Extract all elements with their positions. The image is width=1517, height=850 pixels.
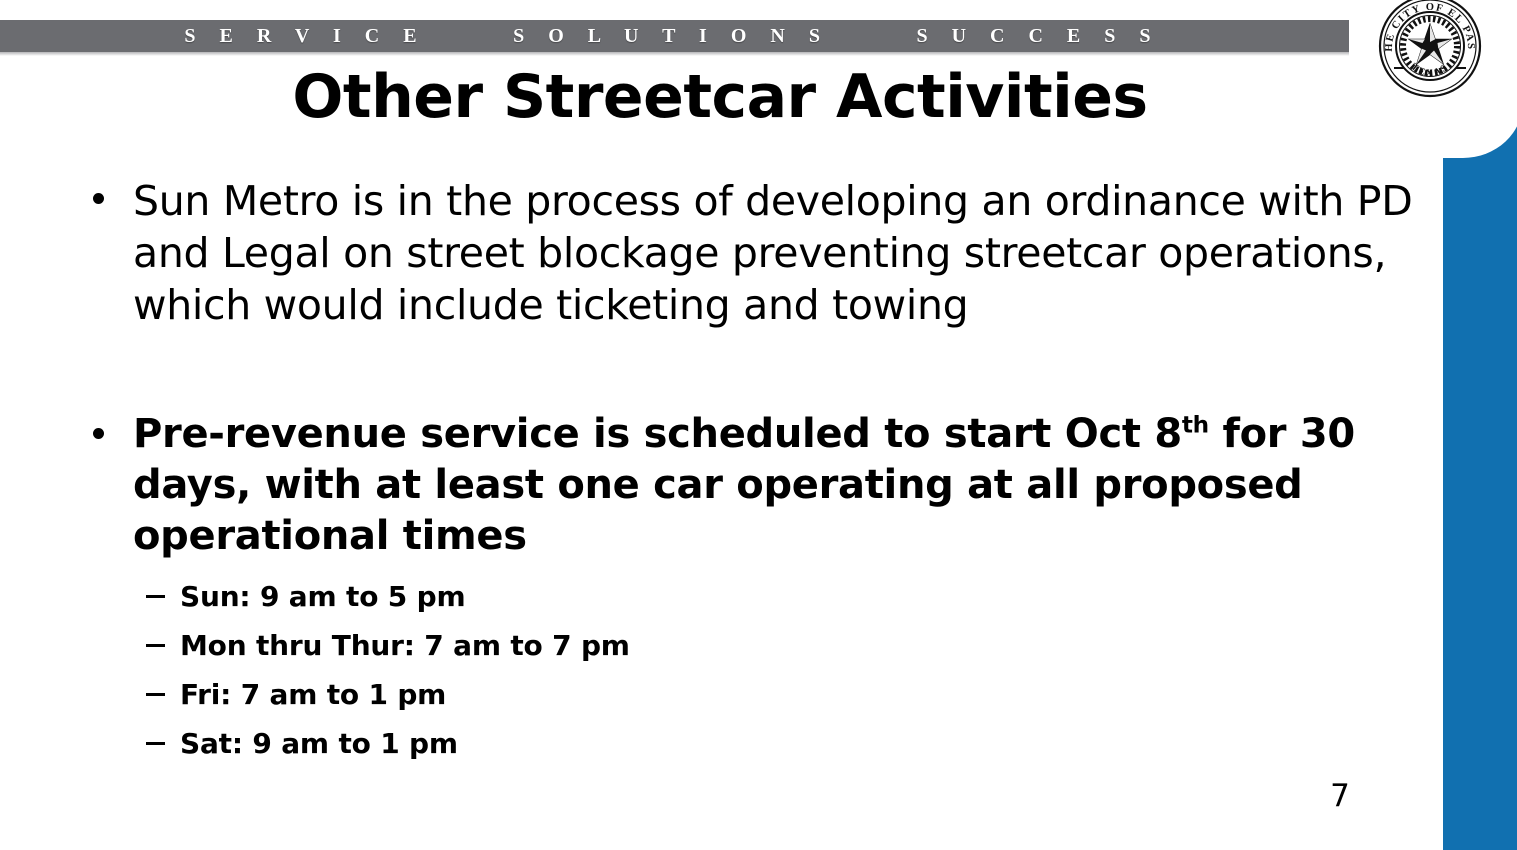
bullet-item: Pre-revenue service is scheduled to star… xyxy=(0,409,1430,562)
page-number: 7 xyxy=(1300,778,1380,814)
blue-accent-bar xyxy=(1443,96,1517,850)
bullet-text: Sun Metro is in the process of developin… xyxy=(133,175,1418,331)
dash-icon xyxy=(146,693,165,696)
slide-body: Sun Metro is in the process of developin… xyxy=(0,175,1430,768)
sub-bullet-list: Sun: 9 am to 5 pm Mon thru Thur: 7 am to… xyxy=(0,572,1430,768)
sub-bullet-item: Fri: 7 am to 1 pm xyxy=(0,670,1430,719)
sub-bullet-item: Mon thru Thur: 7 am to 7 pm xyxy=(0,621,1430,670)
sub-bullet-text: Sat: 9 am to 1 pm xyxy=(180,727,458,760)
dash-icon xyxy=(146,742,165,745)
bullet-text-part1: Pre-revenue service is scheduled to star… xyxy=(133,411,1182,457)
sub-bullet-item: Sat: 9 am to 1 pm xyxy=(0,719,1430,768)
bullet-text: Pre-revenue service is scheduled to star… xyxy=(133,409,1408,562)
bullet-spacer xyxy=(0,331,1430,409)
presentation-slide: S E R V I C E S O L U T I O N S S U C C … xyxy=(0,0,1517,850)
ordinal-superscript: th xyxy=(1182,412,1209,439)
sub-bullet-item: Sun: 9 am to 5 pm xyxy=(0,572,1430,621)
dash-icon xyxy=(146,595,165,598)
page-title: Other Streetcar Activities xyxy=(0,62,1440,132)
bullet-dot-icon xyxy=(93,193,104,204)
sub-bullet-text: Fri: 7 am to 1 pm xyxy=(180,678,446,711)
bullet-item: Sun Metro is in the process of developin… xyxy=(0,175,1430,331)
sub-bullet-text: Mon thru Thur: 7 am to 7 pm xyxy=(180,629,630,662)
header-banner-shadow xyxy=(0,52,1349,56)
dash-icon xyxy=(146,644,165,647)
header-banner-text: S E R V I C E S O L U T I O N S S U C C … xyxy=(0,20,1160,52)
bullet-dot-icon xyxy=(93,428,104,439)
sub-bullet-text: Sun: 9 am to 5 pm xyxy=(180,580,465,613)
